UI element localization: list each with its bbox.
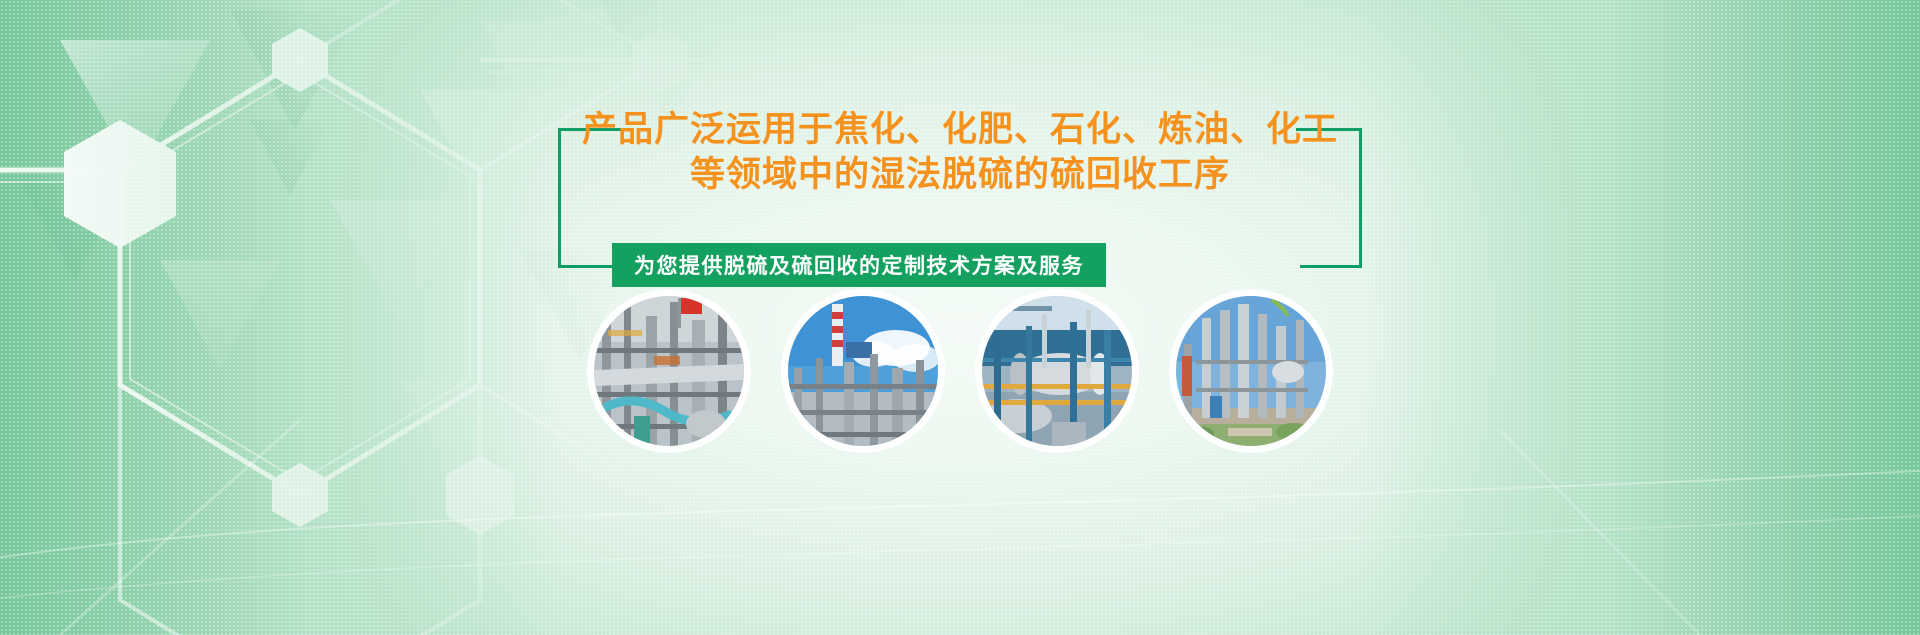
photo-pressure-vessels[interactable] bbox=[982, 296, 1132, 446]
photo-distillation-columns[interactable] bbox=[1176, 296, 1326, 446]
subtitle-bar: 为您提供脱硫及硫回收的定制技术方案及服务 bbox=[612, 243, 1106, 287]
headline-line-1: 产品广泛运用于焦化、化肥、石化、炼油、化工 bbox=[560, 108, 1360, 153]
photo-stack-plant[interactable] bbox=[788, 296, 938, 446]
photo-refinery-piping[interactable] bbox=[594, 296, 744, 446]
headline: 产品广泛运用于焦化、化肥、石化、炼油、化工 等领域中的湿法脱硫的硫回收工序 bbox=[560, 108, 1360, 198]
headline-line-2: 等领域中的湿法脱硫的硫回收工序 bbox=[560, 153, 1360, 198]
photo-gallery bbox=[0, 296, 1920, 456]
bracket-bottom-right bbox=[1300, 265, 1362, 268]
promo-banner: 产品广泛运用于焦化、化肥、石化、炼油、化工 等领域中的湿法脱硫的硫回收工序 为您… bbox=[0, 0, 1920, 635]
bracket-bottom-left bbox=[558, 265, 618, 268]
subtitle-text: 为您提供脱硫及硫回收的定制技术方案及服务 bbox=[634, 250, 1084, 280]
